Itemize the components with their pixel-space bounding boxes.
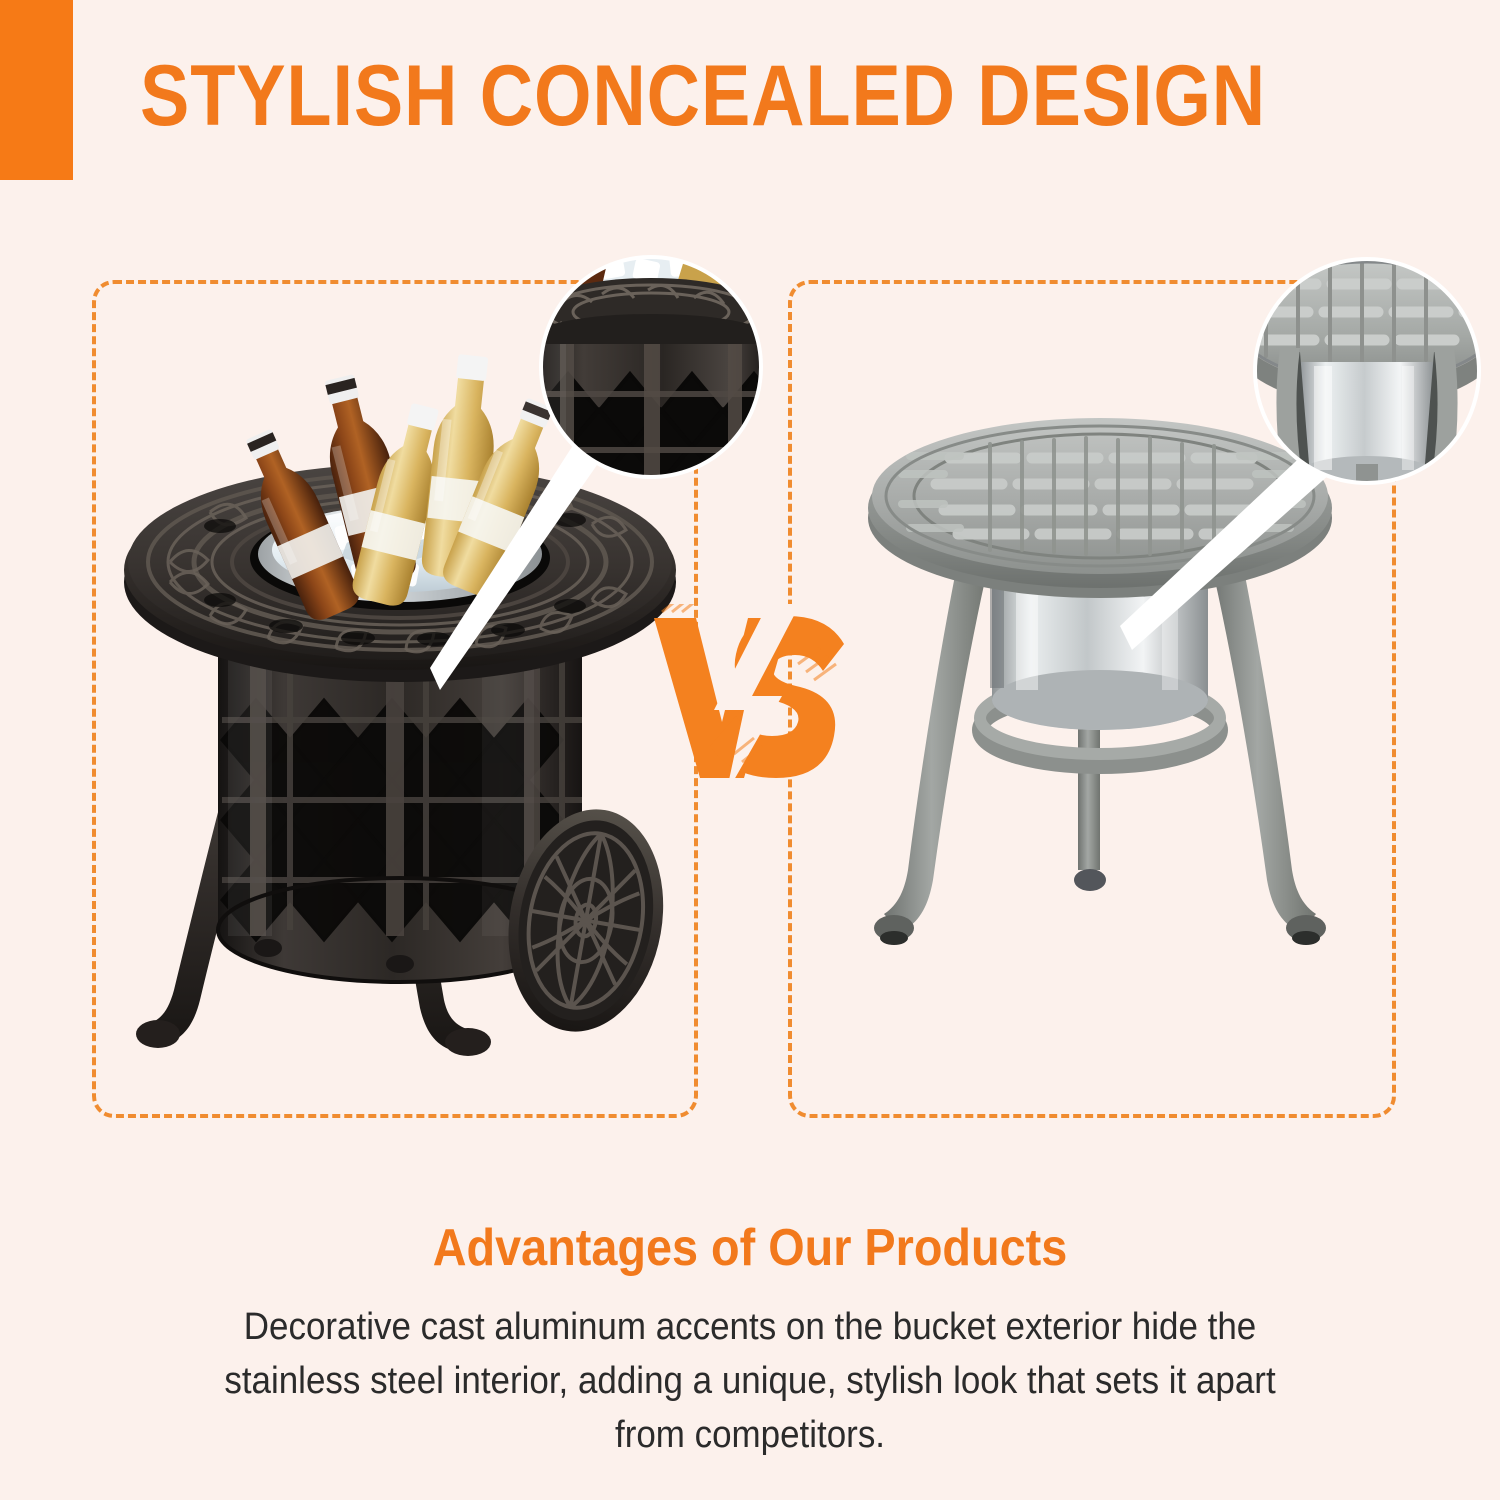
vs-badge: [648, 604, 854, 794]
advantages-heading: Advantages of Our Products: [75, 1218, 1425, 1278]
infographic-canvas: STYLISH CONCEALED DESIGN: [0, 0, 1500, 1500]
advantages-body: Decorative cast aluminum accents on the …: [216, 1300, 1283, 1462]
page-title: STYLISH CONCEALED DESIGN: [140, 48, 1224, 144]
callout-circle-ours: [538, 254, 764, 480]
header-accent-block: [0, 0, 73, 180]
callout-circle-competitor: [1252, 256, 1482, 486]
